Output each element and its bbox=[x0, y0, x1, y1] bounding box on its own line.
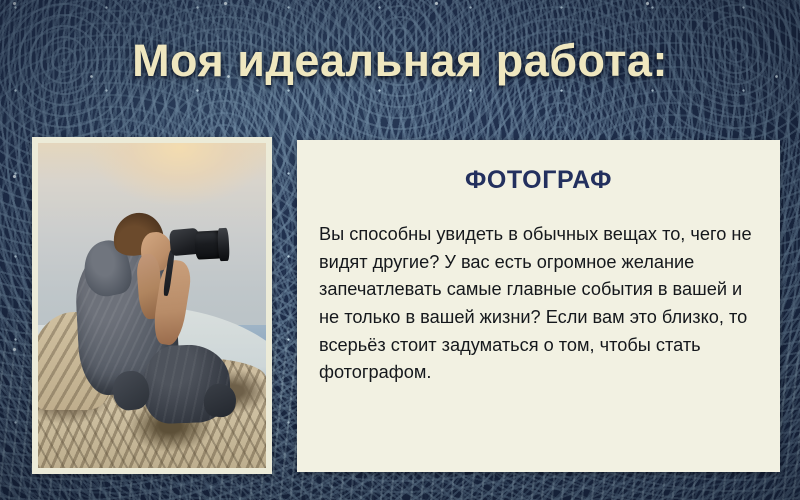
text-panel: ФОТОГРАФ Вы способны увидеть в обычных в… bbox=[297, 140, 780, 472]
photographer-icon bbox=[38, 143, 266, 468]
photographer-photo bbox=[38, 143, 266, 468]
panel-heading: ФОТОГРАФ bbox=[319, 166, 758, 195]
page-title: Моя идеальная работа: bbox=[0, 38, 800, 83]
camera-lens-hood-icon bbox=[217, 227, 230, 260]
photo-frame bbox=[32, 137, 272, 474]
slide-canvas: Моя идеальная работа: bbox=[0, 0, 800, 500]
panel-body-text: Вы способны увидеть в обычных вещах то, … bbox=[319, 221, 758, 387]
photographer-boot bbox=[203, 382, 238, 418]
